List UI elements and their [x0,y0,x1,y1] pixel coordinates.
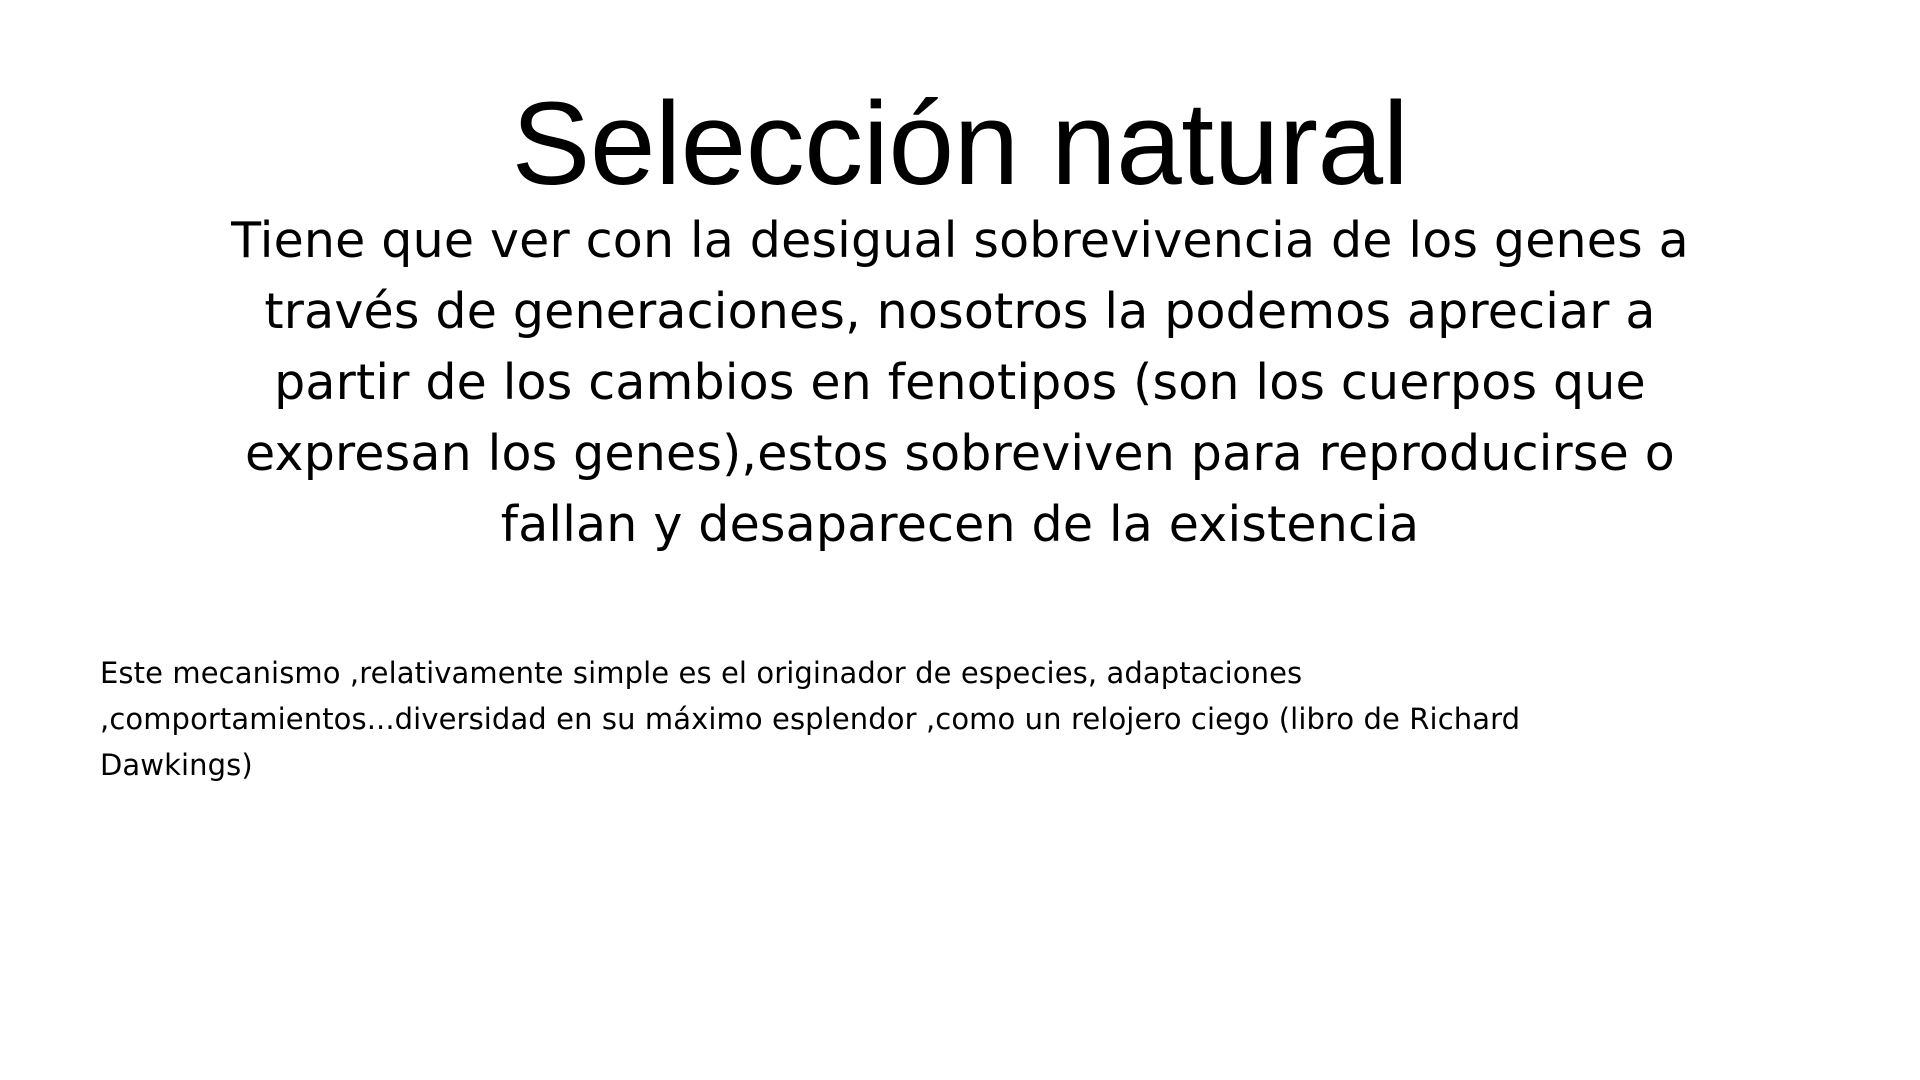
body-paragraph-line: expresan los genes),estos sobreviven par… [80,418,1840,489]
note-paragraph: Este mecanismo ,relativamente simple es … [100,650,1840,788]
body-paragraph-line: fallan y desaparecen de la existencia [80,489,1840,560]
note-paragraph-line: Dawkings) [100,742,1840,788]
note-paragraph-line: ,comportamientos...diversidad en su máxi… [100,696,1840,742]
body-paragraph-line: Tiene que ver con la desigual sobreviven… [80,205,1840,276]
note-paragraph-line: Este mecanismo ,relativamente simple es … [100,650,1840,696]
body-paragraph: Tiene que ver con la desigual sobreviven… [80,205,1840,560]
body-paragraph-line: partir de los cambios en fenotipos (son … [80,347,1840,418]
body-paragraph-line: través de generaciones, nosotros la pode… [80,276,1840,347]
page-title: Selección natural [0,81,1920,208]
slide-canvas: Selección natural Tiene que ver con la d… [0,0,1920,1080]
